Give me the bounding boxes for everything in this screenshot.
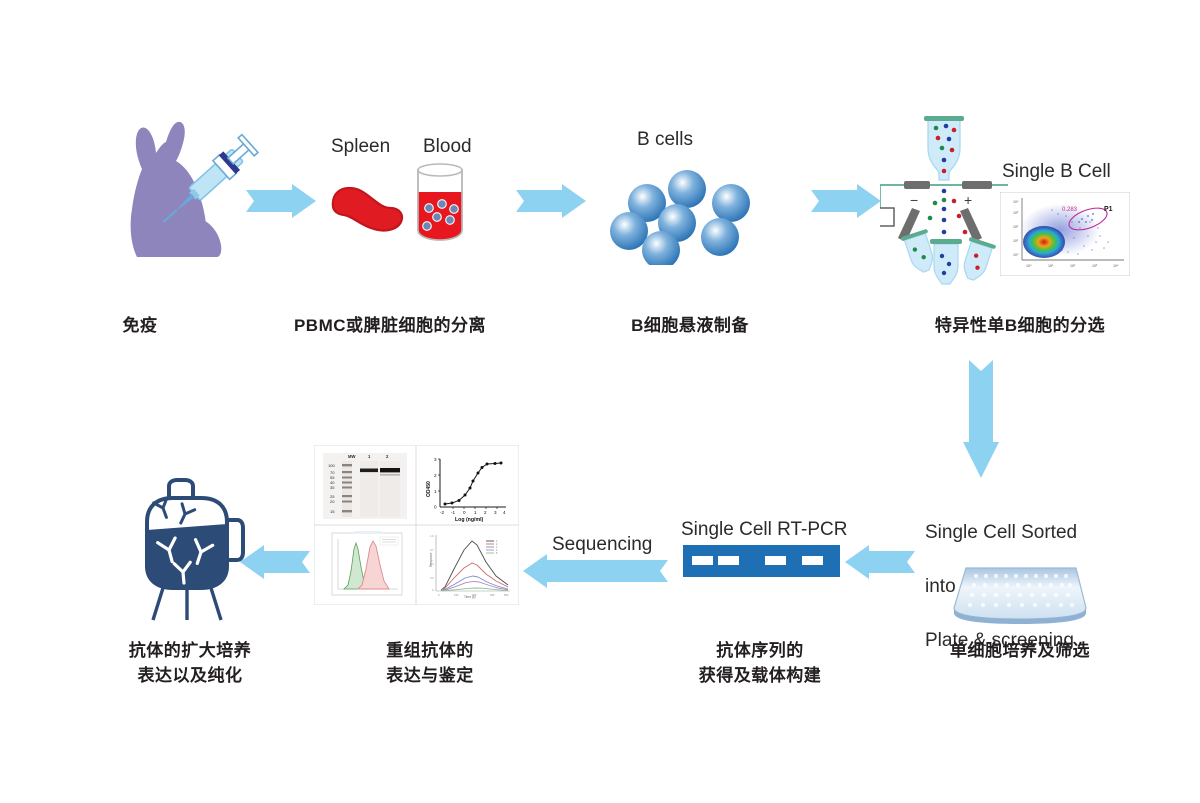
svg-text:15: 15 [330,509,335,514]
svg-text:0: 0 [463,510,466,515]
svg-text:10⁴: 10⁴ [1013,200,1019,204]
svg-text:MW: MW [348,454,355,459]
blood-tube-icon [412,160,468,242]
svg-text:−: − [910,192,918,208]
caption-pbmc-isolation: PBMC或脾脏细胞的分离 [265,313,515,338]
bioreactor-bag-icon [123,478,253,623]
arrow-pbmc-to-bcells [516,184,586,218]
svg-text:10³: 10³ [1092,264,1098,268]
arrow-sorting-to-plate [963,360,999,478]
panel-flow-histogram [332,531,402,595]
svg-text:4: 4 [503,510,506,515]
svg-text:3: 3 [434,457,437,462]
svg-text:10³: 10³ [1013,211,1019,215]
svg-text:1: 1 [434,489,437,494]
svg-text:300: 300 [472,593,477,597]
rabbit-syringe-icon [105,105,260,260]
svg-text:2: 2 [484,510,487,515]
facs-gate-percent: 0.283 [1062,207,1078,213]
svg-text:0.4: 0.4 [430,562,434,566]
caption-antibody-production: 抗体的扩大培养 表达以及纯化 [85,638,295,688]
svg-text:0.7: 0.7 [430,548,434,552]
label-single-cell-rtpcr: Single Cell RT-PCR [681,516,847,543]
label-b-cells: B cells [637,126,693,153]
b-cells-icon [605,165,775,265]
caption-immunization: 免疫 [80,313,200,338]
svg-text:100: 100 [328,463,335,468]
svg-text:10²: 10² [1013,225,1019,229]
arrow-bcells-to-sorting [811,184,881,218]
facs-sorter-icon: − + [880,108,1015,286]
svg-text:0: 0 [434,505,437,510]
svg-text:1: 1 [474,510,477,515]
svg-text:10⁴: 10⁴ [1113,264,1119,268]
workflow-diagram: 免疫 Spleen Blood [0,0,1200,803]
caption-single-b-cell-sorting: 特异性单B细胞的分选 [880,313,1160,338]
svg-text:600: 600 [504,593,509,597]
arrow-plate-to-rtpcr [845,545,915,579]
label-sorting-line1: Single B Cell [1002,161,1111,182]
svg-text:450: 450 [490,593,495,597]
label-plate-line1: Single Cell Sorted [925,522,1077,543]
svg-text:10²: 10² [1070,264,1076,268]
96-well-plate-icon [950,562,1090,624]
arrow-immunization-to-pbmc [246,184,316,218]
panel-sds-page: MW12 10070 5540 3525 2015 [323,453,407,519]
svg-text:10⁰: 10⁰ [1013,253,1019,257]
gel-band-icon [683,545,840,577]
elisa-ylabel: OD450 [426,481,432,497]
four-panel-characterization-icon: MW12 10070 5540 3525 2015 [314,445,519,605]
svg-text:10¹: 10¹ [1013,239,1019,243]
svg-text:-1: -1 [451,510,456,515]
label-blood: Blood [423,133,472,160]
spleen-icon [326,178,406,238]
svg-text:35: 35 [330,485,335,490]
svg-text:20: 20 [330,499,335,504]
caption-antibody-sequence: 抗体序列的 获得及载体构建 [650,638,870,688]
svg-text:3: 3 [494,510,497,515]
caption-recombinant-expression: 重组抗体的 表达与鉴定 [330,638,530,688]
facs-gate-label: P1 [1104,206,1113,213]
arrow-rtpcr-to-characterization [523,554,668,588]
svg-text:10⁰: 10⁰ [1026,264,1032,268]
caption-b-cell-suspension: B细胞悬液制备 [600,313,780,338]
caption-single-cell-culture: 单细胞培养及筛选 [905,638,1135,663]
facs-dotplot: 10⁰10¹ 10²10³ 10⁴ 10⁰10¹ 10²10³ 10⁴ [1000,192,1130,276]
svg-text:+: + [964,192,972,208]
svg-text:10¹: 10¹ [1048,264,1054,268]
svg-text:0.2: 0.2 [430,576,434,580]
elisa-xlabel: Log (ng/ml) [455,517,484,523]
svg-text:1.0: 1.0 [430,534,434,538]
svg-text:-2: -2 [440,510,445,515]
svg-text:150: 150 [454,593,459,597]
label-spleen: Spleen [331,133,390,160]
svg-text:2: 2 [434,473,437,478]
